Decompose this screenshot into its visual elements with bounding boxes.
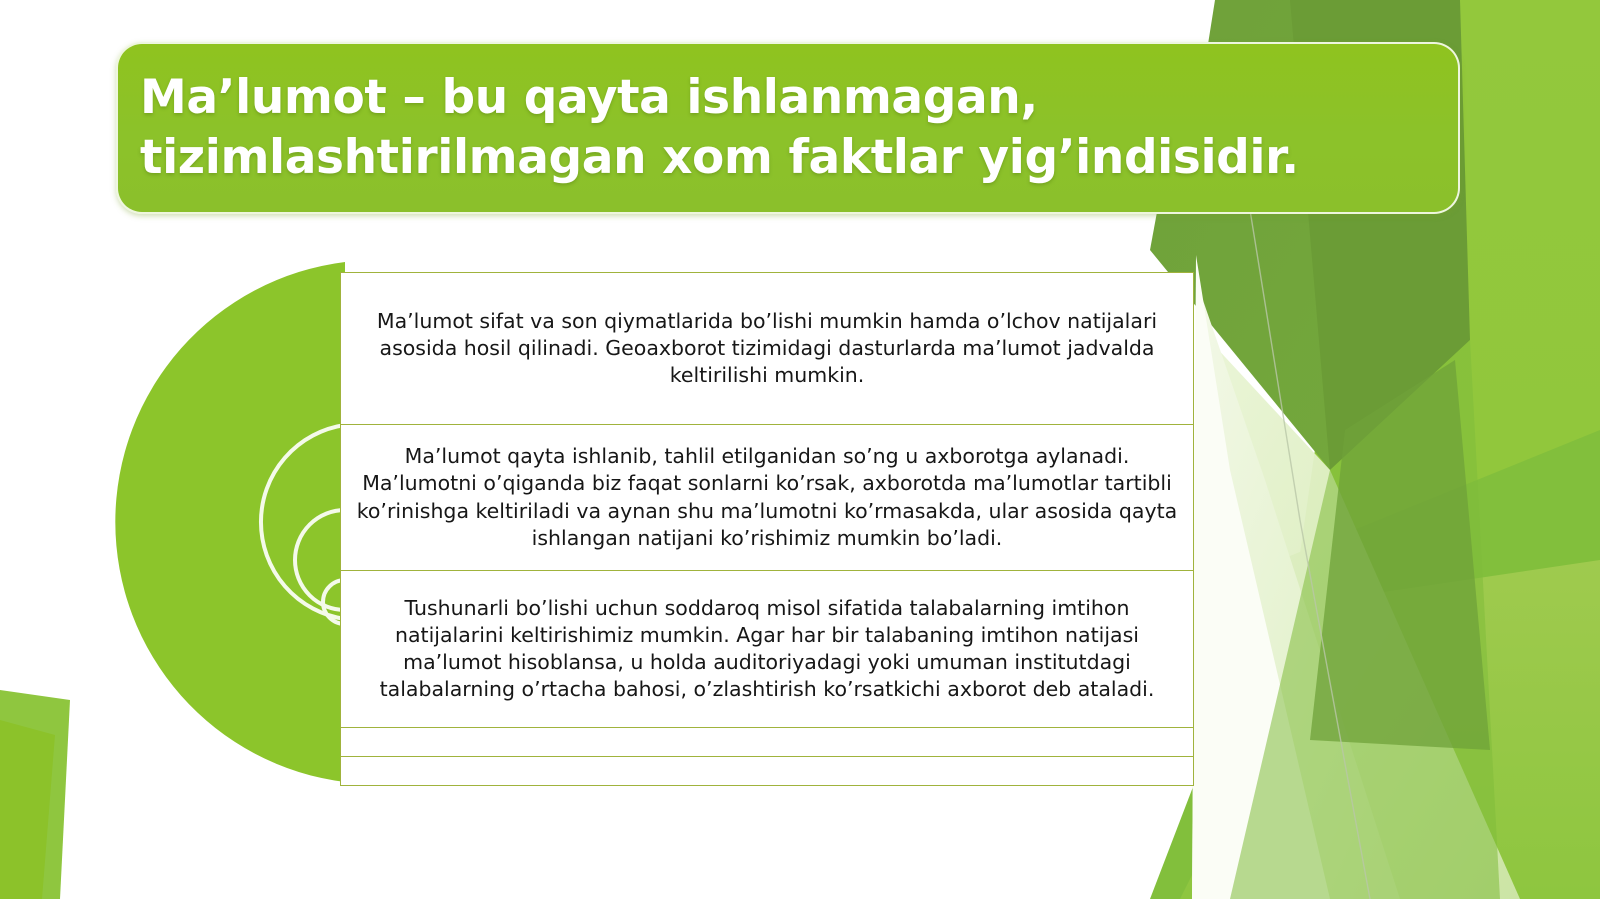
page-title: Ma’lumot – bu qayta ishlanmagan, tizimla… bbox=[118, 68, 1325, 188]
content-box-1[interactable]: Ma’lumot sifat va son qiymatlarida bo’li… bbox=[340, 272, 1194, 424]
content-box-3-text: Tushunarli bo’lishi uchun soddaroq misol… bbox=[355, 595, 1179, 704]
concentric-arcs-icon bbox=[0, 262, 360, 782]
content-box-2[interactable]: Ma’lumot qayta ishlanib, tahlil etilgani… bbox=[340, 424, 1194, 570]
content-box-1-text: Ma’lumot sifat va son qiymatlarida bo’li… bbox=[355, 308, 1179, 390]
slide-canvas: Ma’lumot – bu qayta ishlanmagan, tizimla… bbox=[0, 0, 1600, 899]
content-box-4-empty[interactable] bbox=[340, 727, 1194, 756]
content-stack: Ma’lumot sifat va son qiymatlarida bo’li… bbox=[340, 272, 1194, 786]
slide-title-banner: Ma’lumot – bu qayta ishlanmagan, tizimla… bbox=[116, 42, 1460, 214]
content-box-2-text: Ma’lumot qayta ishlanib, tahlil etilgani… bbox=[355, 443, 1179, 552]
content-box-5-empty[interactable] bbox=[340, 756, 1194, 786]
content-box-3[interactable]: Tushunarli bo’lishi uchun soddaroq misol… bbox=[340, 570, 1194, 727]
